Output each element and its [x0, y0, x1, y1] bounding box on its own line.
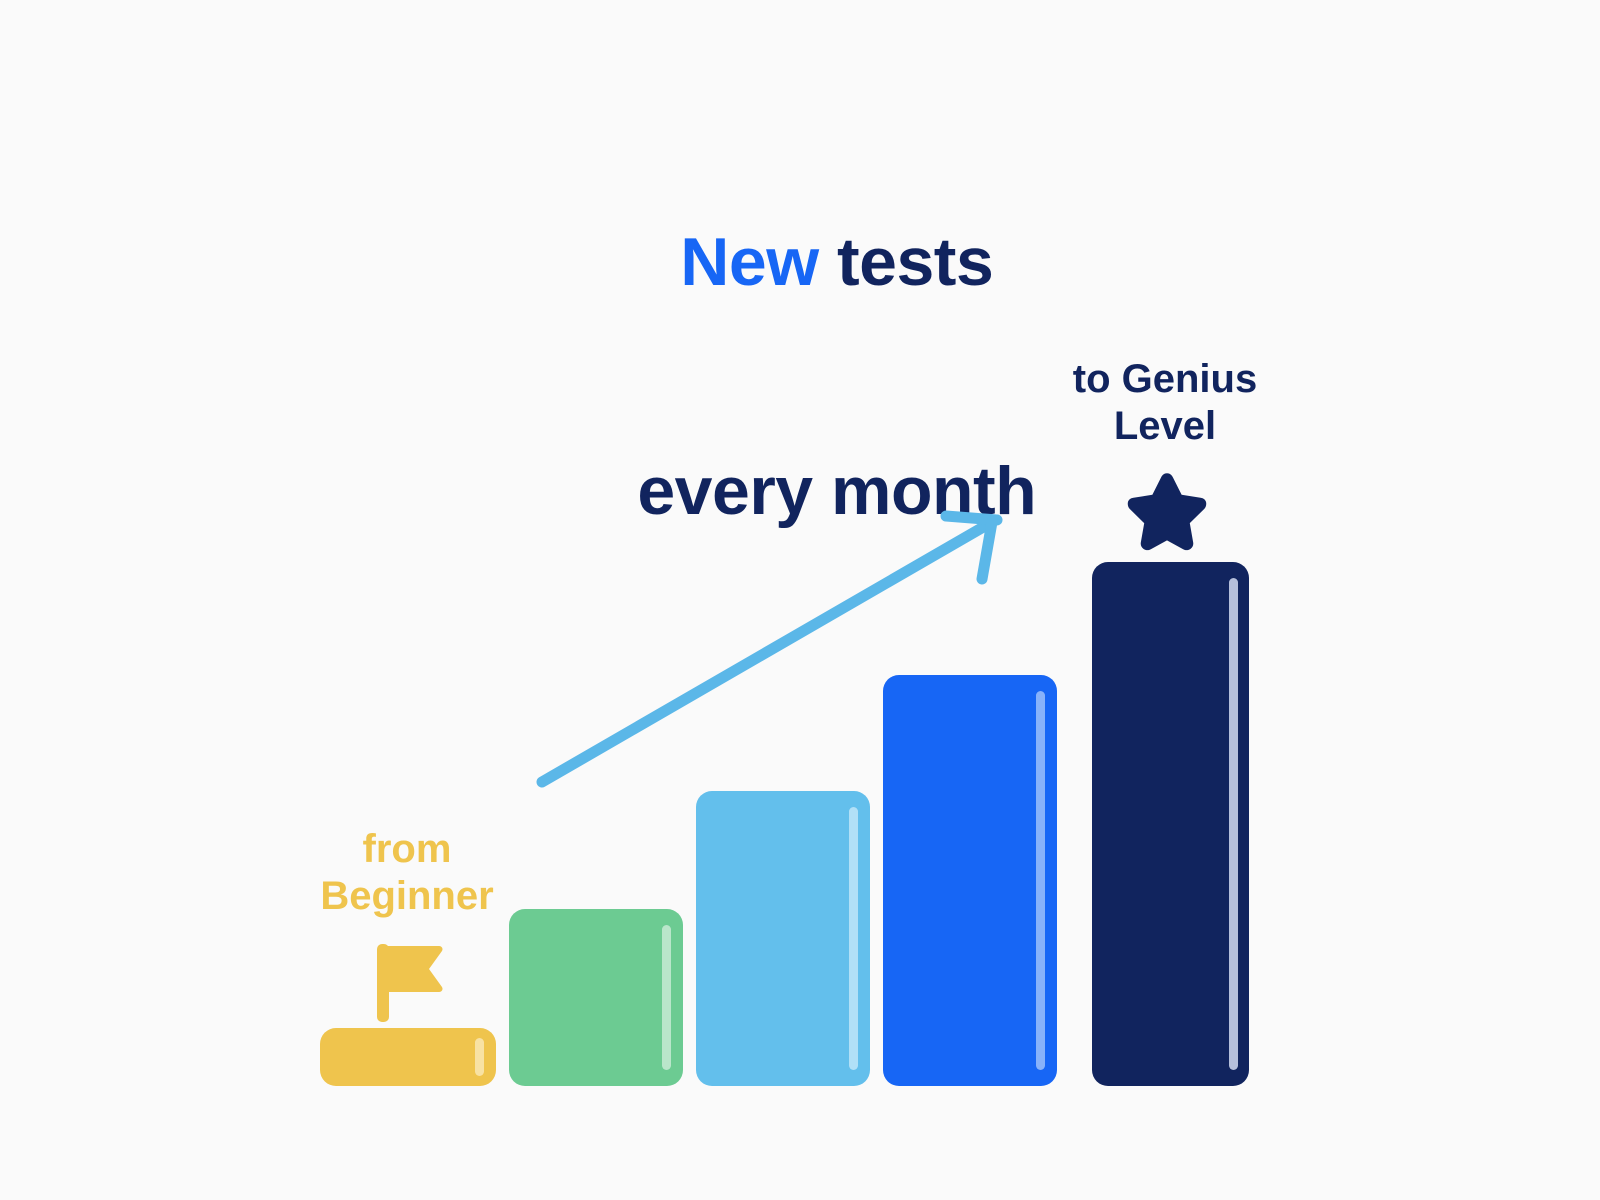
bar-gloss — [662, 925, 671, 1070]
bar-genius — [1092, 562, 1249, 1086]
flag-icon — [377, 942, 449, 1022]
caption-genius-level: to Genius Level — [1020, 356, 1310, 450]
bar-gloss — [1036, 691, 1045, 1070]
caption-from-beginner: from Beginner — [282, 826, 532, 920]
bar-level-2 — [509, 909, 683, 1086]
bar-beginner — [320, 1028, 496, 1086]
headline-accent-word: New — [680, 224, 818, 300]
bar-gloss — [475, 1038, 484, 1076]
bar-level-4 — [883, 675, 1057, 1086]
bar-gloss — [849, 807, 858, 1070]
infographic-canvas: New tests every month to Genius Level fr… — [0, 0, 1600, 1200]
bar-level-3 — [696, 791, 870, 1086]
bar-gloss — [1229, 578, 1238, 1070]
star-icon — [1124, 470, 1210, 554]
headline-rest: tests — [819, 224, 994, 300]
